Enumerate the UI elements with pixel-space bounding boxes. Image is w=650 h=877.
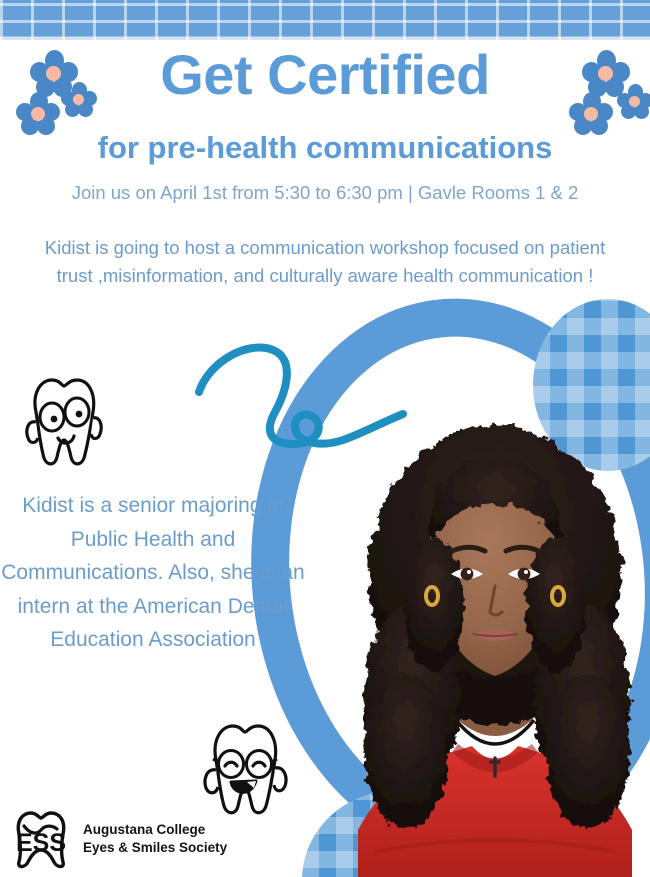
logo-org-name: Augustana College Eyes & Smiles Society	[83, 821, 227, 856]
flower-cluster-right	[562, 48, 650, 140]
event-time-location: Join us on April 1st from 5:30 to 6:30 p…	[0, 182, 650, 204]
logo-monogram: ESS	[16, 829, 66, 857]
tooth-with-glasses-happy-icon	[200, 718, 288, 820]
tooth-outline-icon: ESS	[10, 808, 72, 870]
ess-logo: ESS Augustana College Eyes & Smiles Soci…	[10, 808, 227, 870]
speaker-bio: Kidist is a senior majoring in Public He…	[0, 489, 306, 657]
logo-org-line-2: Eyes & Smiles Society	[83, 839, 227, 857]
flower-icon	[16, 92, 60, 136]
logo-org-line-1: Augustana College	[83, 821, 227, 839]
flower-icon	[61, 82, 97, 118]
top-gingham-strip	[0, 0, 650, 40]
flower-cluster-left	[14, 48, 124, 140]
flower-icon	[617, 84, 650, 120]
speaker-photo	[330, 400, 650, 877]
event-description: Kidist is going to host a communication …	[35, 234, 615, 290]
poster-canvas: Get Certified for pre-health communicati…	[0, 0, 650, 877]
tooth-with-glasses-icon	[24, 372, 104, 470]
flower-icon	[569, 92, 613, 136]
